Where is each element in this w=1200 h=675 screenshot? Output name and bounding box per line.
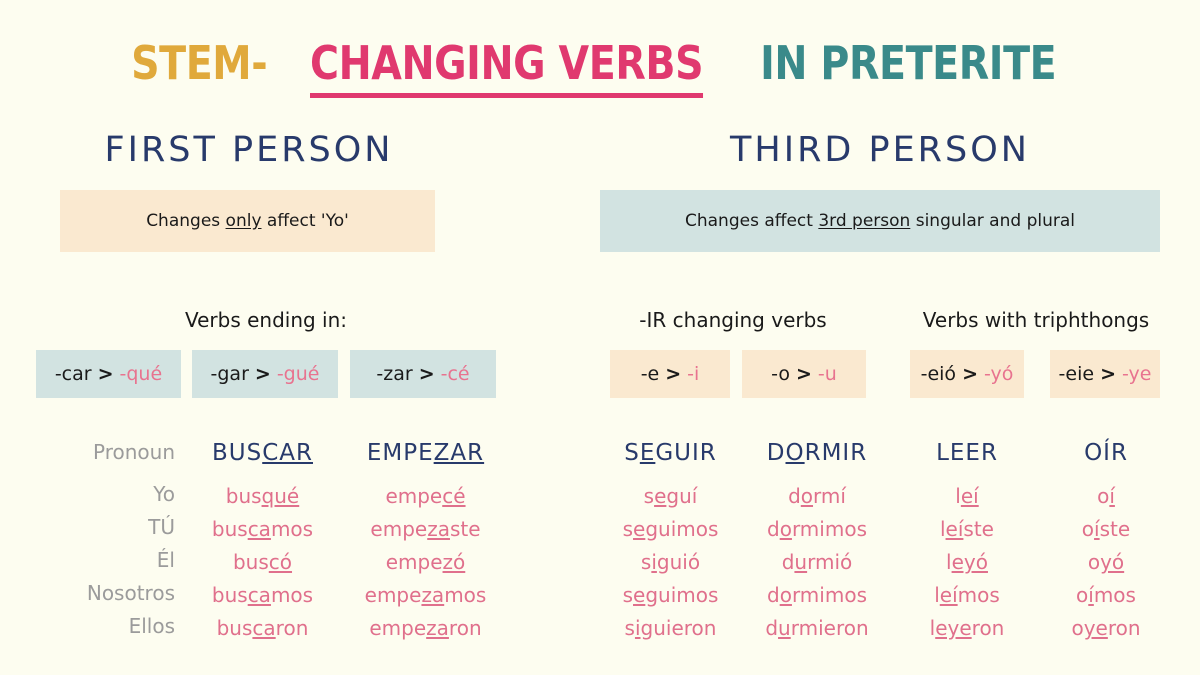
rule-chip-car: -car>-qué <box>36 350 181 398</box>
rule-chip-yo-to: -yó <box>984 363 1013 385</box>
pronoun-ellos: Ellos <box>30 610 175 643</box>
page-title: STEM-CHANGING VERBS IN PRETERITE <box>0 36 1200 98</box>
form-prefix: o <box>1088 550 1100 574</box>
form-prefix: d <box>765 616 778 640</box>
infinitive-stem-marker: ZAR <box>434 440 484 466</box>
verb-form-oir-0: oí <box>1042 480 1170 513</box>
form-changed-stem: ca <box>248 583 271 607</box>
verb-form-buscar-4: buscaron <box>185 612 340 645</box>
pronoun-column-header: Pronoun <box>30 440 175 464</box>
form-suffix: ron <box>972 616 1005 640</box>
verb-form-buscar-3: buscamos <box>185 579 340 612</box>
form-changed-stem: zó <box>443 550 466 574</box>
form-changed-stem: o <box>801 484 813 508</box>
verb-form-seguir-2: siguió <box>598 546 743 579</box>
form-changed-stem: eye <box>935 616 971 640</box>
title-part-changing-verbs: CHANGING VERBS <box>310 36 703 98</box>
verb-form-seguir-1: seguimos <box>598 513 743 546</box>
pronoun-tu: TÚ <box>30 511 175 544</box>
verb-infinitive-oir: OÍR <box>1042 440 1170 466</box>
form-changed-stem: e <box>633 517 645 541</box>
form-changed-stem: o <box>780 583 792 607</box>
form-suffix: mos <box>444 583 486 607</box>
verb-form-empezar-4: empezaron <box>348 612 503 645</box>
form-changed-stem: o <box>780 517 792 541</box>
first-person-callout: Changes only affect 'Yo' <box>60 190 435 252</box>
arrow-icon: > <box>962 363 978 385</box>
form-suffix: rmimos <box>792 583 867 607</box>
arrow-icon: > <box>665 363 681 385</box>
infinitive-plain: BUS <box>212 440 262 466</box>
triphthongs-label: Verbs with triphthongs <box>900 308 1172 332</box>
rule-chip-eie-from: -eie <box>1059 363 1095 385</box>
rule-chip-u-to: -u <box>818 363 837 385</box>
rule-chip-o-from: -o <box>771 363 790 385</box>
form-prefix: bus <box>212 517 248 541</box>
callout-text-before: Changes <box>146 211 225 231</box>
form-changed-stem: í <box>1109 484 1115 508</box>
conjugation-column-empezar: EMPEZARempecéempezasteempezóempezamosemp… <box>348 440 503 645</box>
arrow-icon: > <box>1100 363 1116 385</box>
verbs-ending-in-label: Verbs ending in: <box>36 308 496 332</box>
form-suffix: rmió <box>807 550 852 574</box>
form-changed-stem: eí <box>940 583 958 607</box>
form-changed-stem: za <box>421 583 444 607</box>
form-changed-stem: qué <box>262 484 300 508</box>
form-prefix: bus <box>226 484 262 508</box>
form-changed-stem: ca <box>252 616 275 640</box>
form-changed-stem: e <box>633 583 645 607</box>
verb-form-dormir-2: durmió <box>742 546 892 579</box>
rule-chip-zar: -zar>-cé <box>350 350 496 398</box>
rule-chip-gar-from: -gar <box>211 363 249 385</box>
infinitive-plain: LEER <box>936 440 998 466</box>
form-prefix: d <box>788 484 801 508</box>
form-prefix: s <box>623 517 633 541</box>
title-part-stem: STEM- <box>131 36 267 90</box>
rule-chip-eie-to-ye: -eie>-ye <box>1050 350 1160 398</box>
form-suffix: guí <box>666 484 697 508</box>
form-prefix: empe <box>370 517 427 541</box>
verb-infinitive-seguir: SEGUIR <box>598 440 743 466</box>
form-prefix: o <box>1071 616 1083 640</box>
form-prefix: bus <box>212 583 248 607</box>
verb-form-dormir-3: dormimos <box>742 579 892 612</box>
rule-chip-ye-to: -ye <box>1122 363 1151 385</box>
verb-infinitive-buscar: BUSCAR <box>185 440 340 466</box>
verb-form-buscar-2: buscó <box>185 546 340 579</box>
verb-form-empezar-0: empecé <box>348 480 503 513</box>
form-prefix: empe <box>385 484 442 508</box>
arrow-icon: > <box>419 363 435 385</box>
verb-form-leer-2: leyó <box>903 546 1031 579</box>
form-suffix: ron <box>1108 616 1141 640</box>
pronoun-yo: Yo <box>30 478 175 511</box>
form-prefix: d <box>782 550 795 574</box>
form-suffix: guieron <box>641 616 717 640</box>
arrow-icon: > <box>796 363 812 385</box>
verb-form-seguir-0: seguí <box>598 480 743 513</box>
first-person-callout-text: Changes only affect 'Yo' <box>146 211 349 231</box>
conjugation-column-seguir: SEGUIRseguíseguimossiguióseguimossiguier… <box>598 440 743 645</box>
infinitive-stem-marker: E <box>640 440 656 466</box>
rule-chip-eio-from: -eió <box>921 363 956 385</box>
verb-form-dormir-1: dormimos <box>742 513 892 546</box>
rule-chip-zar-from: -zar <box>376 363 412 385</box>
form-suffix: ron <box>276 616 309 640</box>
form-suffix: guimos <box>645 583 718 607</box>
third-person-callout: Changes affect 3rd person singular and p… <box>600 190 1160 252</box>
form-changed-stem: ye <box>1084 616 1108 640</box>
conjugation-column-oir: OÍRoíoísteoyóoímosoyeron <box>1042 440 1170 645</box>
form-suffix: rmí <box>813 484 846 508</box>
form-changed-stem: có <box>269 550 292 574</box>
verb-form-oir-2: oyó <box>1042 546 1170 579</box>
verb-form-buscar-0: busqué <box>185 480 340 513</box>
verb-form-leer-0: leí <box>903 480 1031 513</box>
form-prefix: o <box>1097 484 1109 508</box>
form-changed-stem: za <box>427 517 450 541</box>
conjugation-column-buscar: BUSCARbusquébuscamosbuscóbuscamosbuscaro… <box>185 440 340 645</box>
verb-infinitive-dormir: DORMIR <box>742 440 892 466</box>
infinitive-stem-marker: O <box>786 440 805 466</box>
form-changed-stem: eí <box>961 484 979 508</box>
verb-form-buscar-1: buscamos <box>185 513 340 546</box>
form-changed-stem: yó <box>1100 550 1124 574</box>
callout-text-before: Changes affect <box>685 211 818 231</box>
callout-text-emphasis: 3rd person <box>818 211 910 231</box>
form-changed-stem: u <box>794 550 807 574</box>
verb-form-empezar-1: empezaste <box>348 513 503 546</box>
infinitive-plain: EMPE <box>367 440 434 466</box>
form-suffix: ron <box>449 616 482 640</box>
infinitive-plain: S <box>624 440 640 466</box>
verb-form-oir-1: oíste <box>1042 513 1170 546</box>
verb-form-dormir-4: durmieron <box>742 612 892 645</box>
infinitive-plain: D <box>767 440 786 466</box>
form-prefix: bus <box>217 616 253 640</box>
pronoun-el: Él <box>30 544 175 577</box>
title-part-in-preterite: IN PRETERITE <box>760 36 1056 90</box>
form-prefix: bus <box>233 550 269 574</box>
infinitive-tail: GUIR <box>655 440 716 466</box>
rule-chip-e-from: -e <box>641 363 660 385</box>
first-person-heading: FIRST PERSON <box>60 130 438 170</box>
pronoun-nosotros: Nosotros <box>30 577 175 610</box>
rule-chip-gar: -gar>-gué <box>192 350 338 398</box>
form-prefix: d <box>767 583 780 607</box>
verb-form-leer-4: leyeron <box>903 612 1031 645</box>
form-prefix: s <box>625 616 635 640</box>
form-changed-stem: eí <box>946 517 964 541</box>
rule-chip-zar-to: -cé <box>441 363 470 385</box>
arrow-icon: > <box>98 363 114 385</box>
form-suffix: mos <box>958 583 1000 607</box>
form-suffix: mos <box>271 583 313 607</box>
verb-form-empezar-2: empezó <box>348 546 503 579</box>
rule-chip-gar-to: -gué <box>277 363 320 385</box>
form-suffix: ste <box>1100 517 1131 541</box>
callout-text-emphasis: only <box>226 211 262 231</box>
form-prefix: empe <box>365 583 422 607</box>
infinitive-tail: RMIR <box>805 440 868 466</box>
form-prefix: s <box>623 583 633 607</box>
form-prefix: empe <box>369 616 426 640</box>
ir-changing-verbs-label: -IR changing verbs <box>600 308 866 332</box>
form-changed-stem: ca <box>248 517 271 541</box>
verb-infinitive-leer: LEER <box>903 440 1031 466</box>
third-person-callout-text: Changes affect 3rd person singular and p… <box>685 211 1075 231</box>
rule-chip-car-from: -car <box>55 363 92 385</box>
form-prefix: d <box>767 517 780 541</box>
verb-form-empezar-3: empezamos <box>348 579 503 612</box>
conjugation-column-leer: LEERleíleísteleyóleímosleyeron <box>903 440 1031 645</box>
rule-chip-e-to-i: -e>-i <box>610 350 730 398</box>
form-suffix: guió <box>657 550 700 574</box>
rule-chip-i-to: -i <box>687 363 699 385</box>
conjugation-column-dormir: DORMIRdormídormimosdurmiódormimosdurmier… <box>742 440 892 645</box>
third-person-heading: THIRD PERSON <box>600 130 1160 170</box>
form-prefix: o <box>1076 583 1088 607</box>
form-suffix: guimos <box>645 517 718 541</box>
form-suffix: rmieron <box>791 616 869 640</box>
infinitive-stem-marker: CAR <box>262 440 313 466</box>
form-changed-stem: za <box>426 616 449 640</box>
callout-text-after: affect 'Yo' <box>262 211 349 231</box>
callout-text-after: singular and plural <box>910 211 1075 231</box>
arrow-icon: > <box>255 363 271 385</box>
verb-form-oir-3: oímos <box>1042 579 1170 612</box>
form-changed-stem: e <box>654 484 666 508</box>
form-changed-stem: eyó <box>952 550 988 574</box>
rule-chip-eio-to-yo: -eió>-yó <box>910 350 1024 398</box>
verb-form-leer-1: leíste <box>903 513 1031 546</box>
infinitive-plain: OÍR <box>1084 440 1128 466</box>
verb-form-leer-3: leímos <box>903 579 1031 612</box>
form-prefix: s <box>641 550 651 574</box>
form-suffix: mos <box>1094 583 1136 607</box>
form-suffix: ste <box>963 517 994 541</box>
form-changed-stem: u <box>778 616 791 640</box>
form-suffix: mos <box>271 517 313 541</box>
rule-chip-o-to-u: -o>-u <box>742 350 866 398</box>
rule-chip-car-to: -qué <box>120 363 163 385</box>
verb-form-dormir-0: dormí <box>742 480 892 513</box>
verb-form-seguir-3: seguimos <box>598 579 743 612</box>
form-prefix: s <box>644 484 654 508</box>
form-prefix: o <box>1082 517 1094 541</box>
pronoun-column: Pronoun Yo TÚ Él Nosotros Ellos <box>30 440 175 643</box>
form-suffix: ste <box>450 517 481 541</box>
form-suffix: rmimos <box>792 517 867 541</box>
verb-infinitive-empezar: EMPEZAR <box>348 440 503 466</box>
form-changed-stem: cé <box>442 484 465 508</box>
form-prefix: empe <box>386 550 443 574</box>
verb-form-oir-4: oyeron <box>1042 612 1170 645</box>
verb-form-seguir-4: siguieron <box>598 612 743 645</box>
